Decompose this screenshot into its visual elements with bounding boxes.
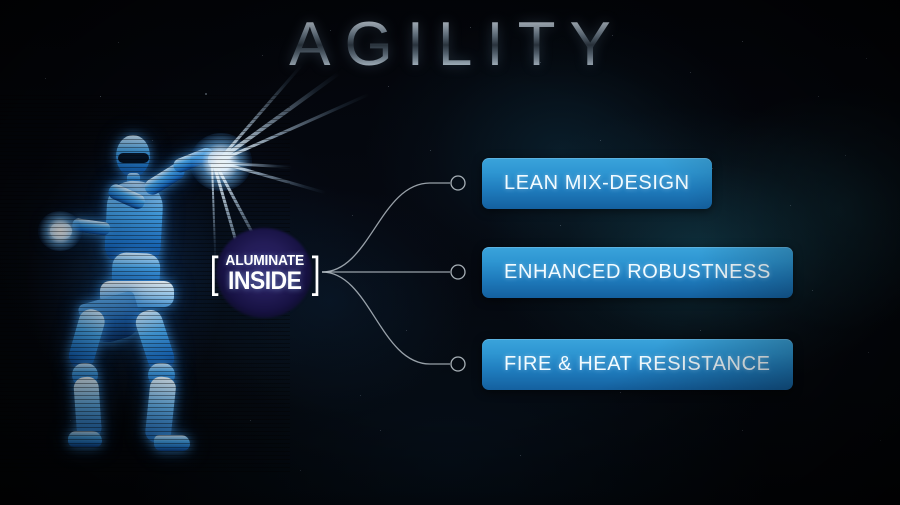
- figure-hand-left: [50, 223, 72, 239]
- badge-text: ALUMINATE INSIDE: [222, 253, 307, 294]
- bracket-right-icon: ]: [311, 251, 320, 295]
- figure-foot-left: [68, 431, 102, 447]
- feature-item-2[interactable]: ENHANCED ROBUSTNESS: [482, 247, 793, 298]
- figure-hand-raised: [208, 151, 228, 169]
- figure-shin-right: [144, 376, 177, 444]
- bracket-left-icon: [: [210, 251, 219, 295]
- figure-forearm-left: [71, 218, 110, 236]
- feature-label: ENHANCED ROBUSTNESS: [504, 261, 771, 284]
- figure-foot-right: [154, 435, 190, 451]
- feature-label: FIRE & HEAT RESISTANCE: [504, 353, 771, 376]
- feature-button-lean-mix-design[interactable]: LEAN MIX-DESIGN: [482, 158, 712, 209]
- slide-canvas: AGILITY: [0, 0, 900, 505]
- figure-visor: [118, 153, 149, 163]
- feature-button-fire-heat-resistance[interactable]: FIRE & HEAT RESISTANCE: [482, 339, 793, 390]
- feature-item-1[interactable]: LEAN MIX-DESIGN: [482, 158, 712, 209]
- slide-title: AGILITY: [0, 14, 900, 76]
- badge-line-1: ALUMINATE: [226, 253, 305, 268]
- feature-item-3[interactable]: FIRE & HEAT RESISTANCE: [482, 339, 793, 390]
- aluminate-inside-badge[interactable]: [ ALUMINATE INSIDE ]: [200, 228, 330, 318]
- badge-line-2: INSIDE: [226, 269, 305, 294]
- feature-label: LEAN MIX-DESIGN: [504, 172, 690, 195]
- feature-button-enhanced-robustness[interactable]: ENHANCED ROBUSTNESS: [482, 247, 793, 298]
